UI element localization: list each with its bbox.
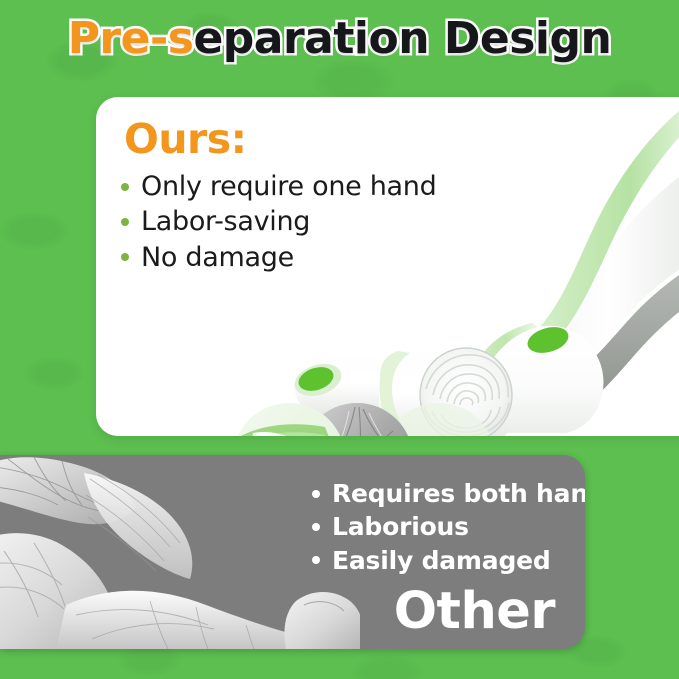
list-item-label: Laborious	[332, 512, 469, 541]
bullet-dot-icon	[121, 253, 129, 261]
list-item-label: No damage	[141, 242, 294, 273]
product-infographic: Pre-separation Design	[0, 0, 679, 679]
bullet-dot-icon	[121, 183, 129, 191]
list-item: Easily damaged	[310, 544, 585, 577]
thumbnail-ours: OURS	[233, 403, 345, 436]
list-item: Laborious	[310, 510, 585, 543]
ours-heading: Ours:	[124, 115, 247, 163]
list-item-label: Requires both hands	[332, 479, 585, 508]
title-rest: eparation Design	[193, 13, 611, 64]
other-panel: Requires both hands Laborious Easily dam…	[0, 455, 585, 649]
list-item-label: Labor-saving	[141, 206, 310, 237]
comparison-thumbnails: Others	[233, 403, 408, 436]
list-item-label: Easily damaged	[332, 546, 551, 575]
ours-card: Ours: Only require one hand Labor-saving…	[96, 97, 679, 436]
list-item: Requires both hands	[310, 477, 585, 510]
list-item: Labor-saving	[118, 204, 436, 239]
bullet-dot-icon	[312, 523, 320, 531]
list-item: Only require one hand	[118, 169, 436, 204]
title-highlight: Pre-s	[68, 13, 194, 64]
other-label: Other	[394, 582, 555, 641]
other-drawbacks-list: Requires both hands Laborious Easily dam…	[310, 477, 585, 577]
list-item: No damage	[118, 240, 436, 275]
bullet-dot-icon	[121, 218, 129, 226]
bullet-dot-icon	[312, 490, 320, 498]
page-title: Pre-separation Design	[0, 17, 679, 61]
other-photo	[0, 455, 360, 649]
list-item-label: Only require one hand	[141, 171, 436, 202]
ours-benefits-list: Only require one hand Labor-saving No da…	[118, 169, 436, 275]
bullet-dot-icon	[312, 556, 320, 564]
